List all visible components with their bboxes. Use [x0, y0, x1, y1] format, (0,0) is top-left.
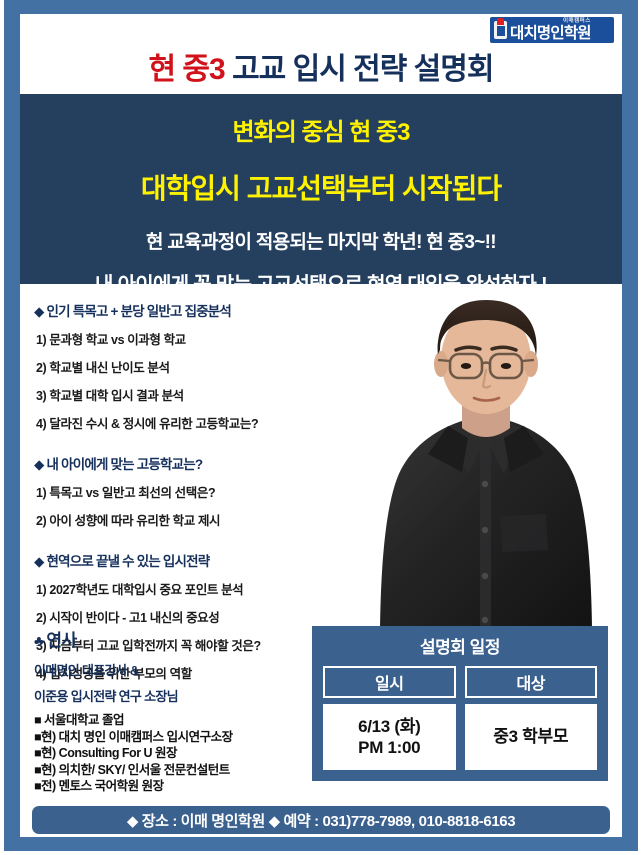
- page-title-rest: 고교 입시 전략 설명회: [225, 53, 494, 86]
- program-item: 2) 시작이 반이다 - 고1 내신의 중요성: [34, 607, 354, 626]
- schedule-title: 설명회 일정: [323, 633, 597, 658]
- program-item: 2) 아이 성향에 따라 유리한 학교 제시: [34, 510, 354, 529]
- footer-contact-bar: ◆ 장소 : 이매 명인학원 ◆ 예약 : 031)778-7989, 010-…: [32, 806, 610, 834]
- section-spacer: [34, 441, 354, 453]
- schedule-header-audience: 대상: [465, 666, 598, 698]
- book-mark-icon: [494, 21, 507, 39]
- page-title: 현 중3 고교 입시 전략 설명회: [20, 44, 622, 88]
- speaker-credential: ■ 서울대학교 졸업: [34, 712, 324, 729]
- speaker-role-line: 이매명인 대표강사 &: [34, 660, 324, 679]
- title-bar: 이매캠퍼스 대치명인학원 현 중3 고교 입시 전략 설명회: [20, 14, 622, 90]
- program-item: 2) 학교별 내신 난이도 분석: [34, 357, 354, 376]
- program-section-heading: ◆ 내 아이에게 맞는 고등학교는?: [34, 453, 202, 473]
- program-item: 1) 2027학년도 대학입시 중요 포인트 분석: [34, 579, 354, 598]
- speaker-photo: [350, 288, 622, 628]
- headline-yellow-2: 대학입시 고교선택부터 시작된다: [20, 167, 622, 207]
- logo-academy-name: 대치명인학원: [510, 26, 591, 42]
- content-area: ◆ 인기 특목고 + 분당 일반고 집중분석 1) 문과형 학교 vs 이과형 …: [20, 288, 622, 800]
- schedule-body-row: 6/13 (화) PM 1:00 중3 학부모: [323, 704, 597, 770]
- speaker-credential: ■현) Consulting For U 원장: [34, 745, 324, 762]
- program-item: 1) 문과형 학교 vs 이과형 학교: [34, 329, 354, 348]
- schedule-cell-date: 6/13 (화) PM 1:00: [323, 704, 456, 770]
- program-item: 4) 달라진 수시 & 정시에 유리한 고등학교는?: [34, 413, 354, 432]
- program-section-heading: ◆ 현역으로 끝낼 수 있는 입시전략: [34, 550, 209, 570]
- schedule-header-row: 일시 대상: [323, 666, 597, 698]
- page-title-highlight: 현 중3: [149, 53, 225, 86]
- schedule-date-line2: PM 1:00: [358, 737, 420, 758]
- logo-campus-label: 이매캠퍼스: [510, 19, 591, 25]
- program-section-heading: ◆ 인기 특목고 + 분당 일반고 집중분석: [34, 300, 231, 320]
- schedule-box: 설명회 일정 일시 대상 6/13 (화) PM 1:00 중3 학부모: [312, 626, 608, 781]
- schedule-cell-audience: 중3 학부모: [465, 704, 598, 770]
- program-item: 3) 학교별 대학 입시 결과 분석: [34, 385, 354, 404]
- speaker-credential: ■현) 대치 명인 이매캠퍼스 입시연구소장: [34, 729, 324, 746]
- logo-text-group: 이매캠퍼스 대치명인학원: [510, 19, 591, 41]
- clover-icon: ♣: [34, 633, 43, 650]
- speaker-info: ♣연사 이매명인 대표강사 & 이준용 입시전략 연구 소장님 ■ 서울대학교 …: [34, 626, 324, 795]
- program-item: 1) 특목고 vs 일반고 최선의 선택은?: [34, 482, 354, 501]
- headline-block: 변화의 중심 현 중3 대학입시 고교선택부터 시작된다 현 교육과정이 적용되…: [20, 94, 622, 284]
- speaker-credential: ■현) 의치한/ SKY/ 인서울 전문컨설턴트: [34, 762, 324, 779]
- speaker-section-label: 연사: [46, 631, 76, 650]
- speaker-name-line: 이준용 입시전략 연구 소장님: [34, 686, 324, 705]
- headline-white-1: 현 교육과정이 적용되는 마지막 학년! 현 중3~!!: [20, 227, 622, 254]
- schedule-header-date: 일시: [323, 666, 456, 698]
- schedule-date-line1: 6/13 (화): [358, 716, 420, 737]
- section-spacer: [34, 538, 354, 550]
- speaker-credential: ■전) 멘토스 국어학원 원장: [34, 778, 324, 795]
- headline-yellow-1: 변화의 중심 현 중3: [20, 112, 622, 147]
- speaker-section-title: ♣연사: [34, 626, 324, 651]
- academy-logo: 이매캠퍼스 대치명인학원: [490, 17, 614, 43]
- seminar-poster: 이매캠퍼스 대치명인학원 현 중3 고교 입시 전략 설명회 변화의 중심 현 …: [0, 0, 642, 855]
